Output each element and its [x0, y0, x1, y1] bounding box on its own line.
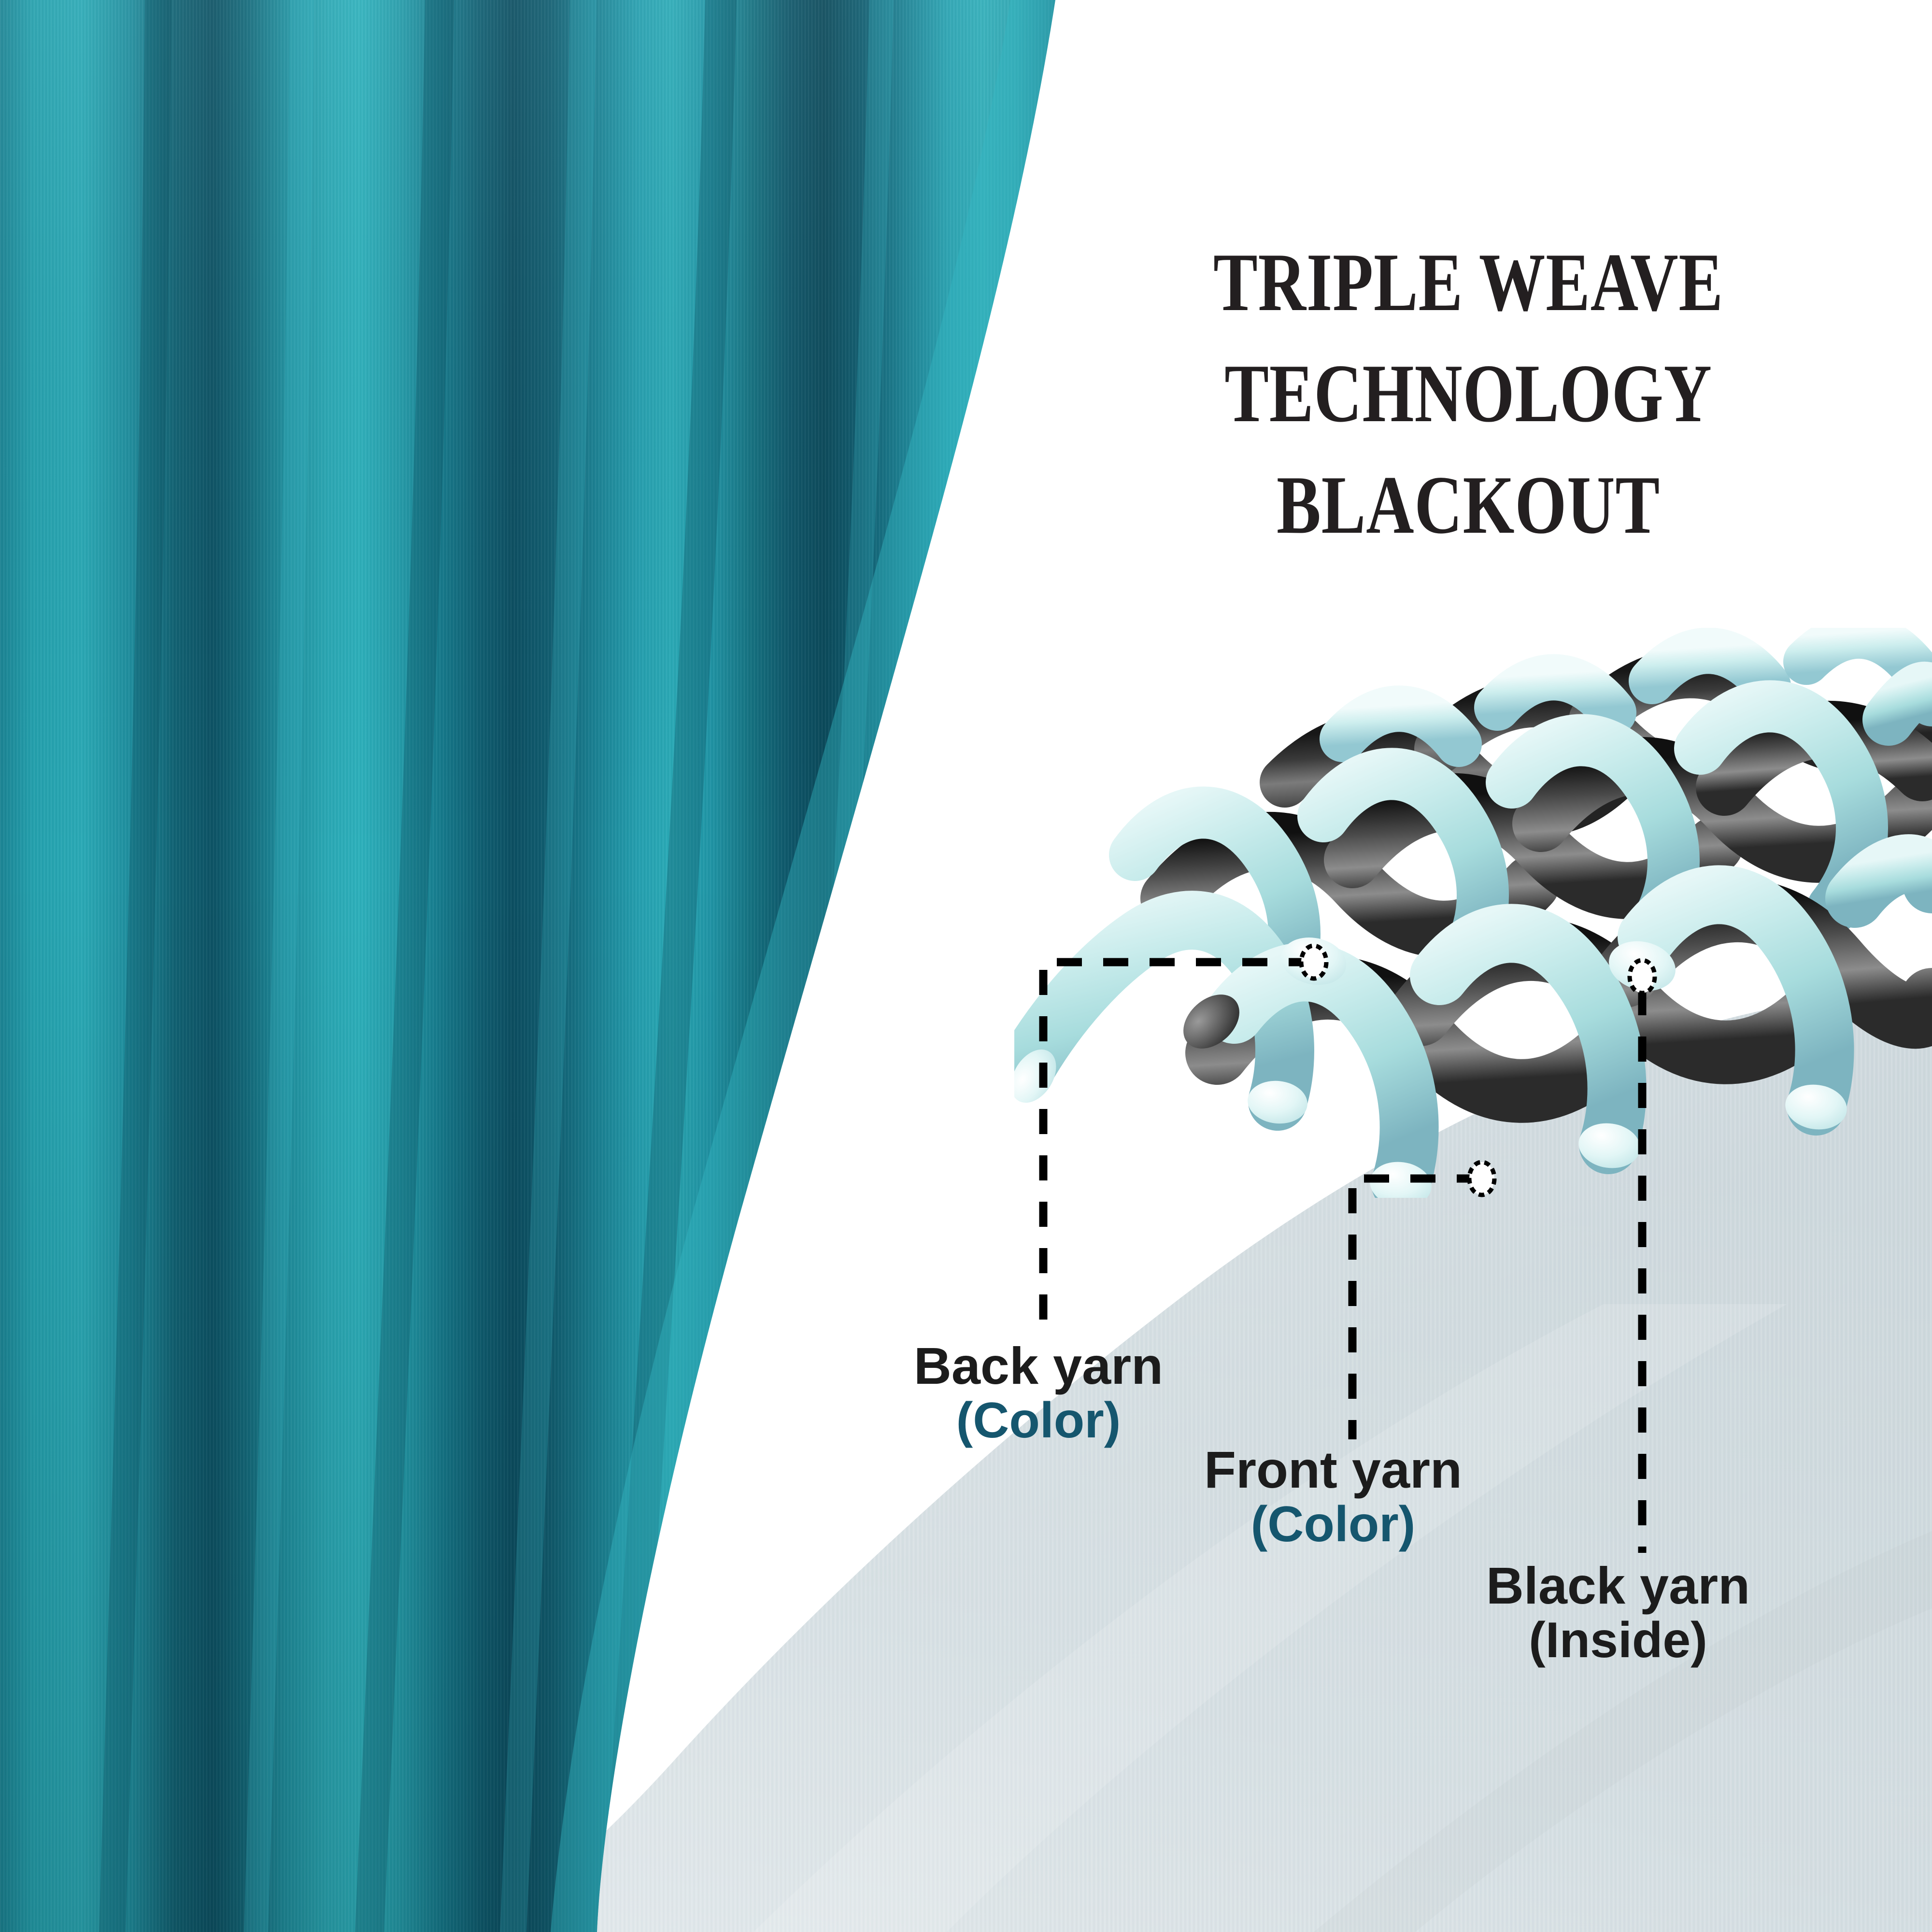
callout-front-yarn-subtitle: (Color): [1179, 1498, 1488, 1551]
page-title: TRIPLE WEAVE TECHNOLOGY BLACKOUT: [1048, 227, 1889, 561]
callout-front-yarn: Front yarn (Color): [1179, 1442, 1488, 1551]
callout-black-yarn-title: Black yarn: [1459, 1558, 1777, 1614]
title-line-3: BLACKOUT: [1132, 450, 1804, 561]
callout-black-yarn: Black yarn (Inside): [1459, 1558, 1777, 1667]
callout-back-yarn-title: Back yarn: [884, 1338, 1193, 1394]
callout-back-yarn-subtitle: (Color): [884, 1394, 1193, 1448]
infographic-canvas: TRIPLE WEAVE TECHNOLOGY BLACKOUT Back ya…: [0, 0, 1932, 1932]
triple-weave-yarn-illustration: [1014, 628, 1932, 1198]
title-line-2: TECHNOLOGY: [1132, 338, 1804, 449]
curtain-photo: [0, 0, 1092, 1932]
title-line-1: TRIPLE WEAVE: [1132, 227, 1804, 338]
callout-front-yarn-title: Front yarn: [1179, 1442, 1488, 1498]
callout-back-yarn: Back yarn (Color): [884, 1338, 1193, 1448]
callout-black-yarn-subtitle: (Inside): [1459, 1614, 1777, 1667]
